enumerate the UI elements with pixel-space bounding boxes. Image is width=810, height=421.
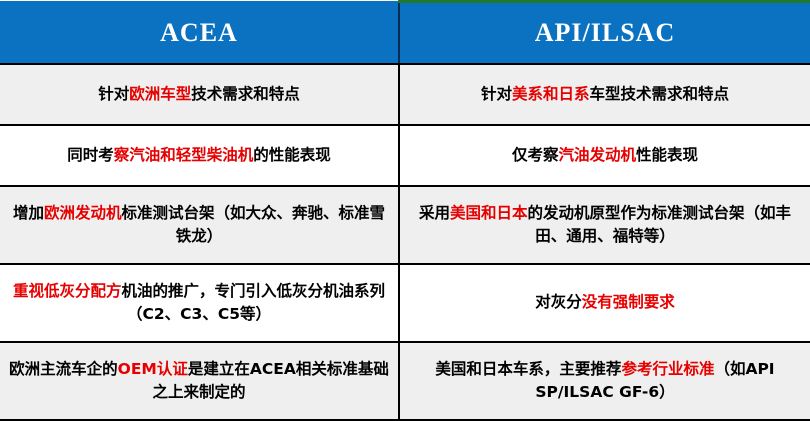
- cell-text: 技术需求和特点: [191, 85, 300, 103]
- cell-text: 同时考: [67, 146, 114, 164]
- cell-text: 车型技术需求和特点: [590, 85, 730, 103]
- table-cell-left: 欧洲主流车企的OEM认证是建立在ACEA相关标准基础之上来制定的: [0, 342, 399, 420]
- table-cell-left: 增加欧洲发动机标准测试台架（如大众、奔驰、标准雪铁龙）: [0, 186, 399, 264]
- table-row: 针对欧洲车型技术需求和特点针对美系和日系车型技术需求和特点: [0, 64, 810, 125]
- cell-text: 仅考察: [512, 146, 559, 164]
- highlighted-text: 欧洲车型: [129, 85, 191, 103]
- cell-text: 的发动机原型作为标准测试台架（如丰田、通用、福特等）: [528, 204, 792, 244]
- table-row: 欧洲主流车企的OEM认证是建立在ACEA相关标准基础之上来制定的美国和日本车系，…: [0, 342, 810, 420]
- highlighted-text: 参考行业标准: [621, 360, 714, 378]
- cell-text: 的性能表现: [253, 146, 331, 164]
- column-header-acea: ACEA: [0, 2, 399, 64]
- cell-text: 机油的推广，专门引入低灰分机油系列（C2、C3、C5等）: [122, 282, 386, 322]
- highlighted-text: 美系和日系: [512, 85, 590, 103]
- cell-text: 针对: [481, 85, 512, 103]
- cell-text: 标准测试台架（如大众、奔驰、标准雪铁龙）: [122, 204, 386, 244]
- highlighted-text: 欧洲发动机: [44, 204, 122, 222]
- table-cell-right: 针对美系和日系车型技术需求和特点: [399, 64, 810, 125]
- table-cell-right: 采用美国和日本的发动机原型作为标准测试台架（如丰田、通用、福特等）: [399, 186, 810, 264]
- cell-text: 采用: [419, 204, 450, 222]
- cell-text: 对灰分: [535, 293, 582, 311]
- highlighted-text: 重视低灰分配方: [13, 282, 122, 300]
- cell-text: 针对: [98, 85, 129, 103]
- table-cell-left: 同时考察汽油和轻型柴油机的性能表现: [0, 125, 399, 186]
- cell-text: 欧洲主流车企的: [9, 360, 118, 378]
- table-cell-right: 对灰分没有强制要求: [399, 264, 810, 342]
- highlighted-text: 察汽油和轻型柴油机: [114, 146, 254, 164]
- table-header-row: ACEA API/ILSAC: [0, 2, 810, 64]
- highlighted-text: OEM认证: [118, 360, 188, 378]
- cell-text: 美国和日本车系，主要推荐: [435, 360, 621, 378]
- table-cell-left: 针对欧洲车型技术需求和特点: [0, 64, 399, 125]
- table-cell-right: 美国和日本车系，主要推荐参考行业标准（如API SP/ILSAC GF-6）: [399, 342, 810, 420]
- cell-text: 是建立在ACEA相关标准基础之上来制定的: [152, 360, 388, 400]
- acea-vs-api-ilsac-comparison-table: ACEA API/ILSAC 针对欧洲车型技术需求和特点针对美系和日系车型技术需…: [0, 0, 810, 421]
- table-header: ACEA API/ILSAC: [0, 2, 810, 64]
- table-body: 针对欧洲车型技术需求和特点针对美系和日系车型技术需求和特点同时考察汽油和轻型柴油…: [0, 64, 810, 420]
- table-cell-left: 重视低灰分配方机油的推广，专门引入低灰分机油系列（C2、C3、C5等）: [0, 264, 399, 342]
- cell-text: 增加: [13, 204, 44, 222]
- cell-text: 性能表现: [636, 146, 698, 164]
- column-header-api-ilsac: API/ILSAC: [399, 2, 810, 64]
- highlighted-text: 汽油发动机: [558, 146, 636, 164]
- table-row: 增加欧洲发动机标准测试台架（如大众、奔驰、标准雪铁龙）采用美国和日本的发动机原型…: [0, 186, 810, 264]
- table-cell-right: 仅考察汽油发动机性能表现: [399, 125, 810, 186]
- table-row: 重视低灰分配方机油的推广，专门引入低灰分机油系列（C2、C3、C5等）对灰分没有…: [0, 264, 810, 342]
- table-row: 同时考察汽油和轻型柴油机的性能表现仅考察汽油发动机性能表现: [0, 125, 810, 186]
- highlighted-text: 没有强制要求: [582, 293, 675, 311]
- highlighted-text: 美国和日本: [450, 204, 528, 222]
